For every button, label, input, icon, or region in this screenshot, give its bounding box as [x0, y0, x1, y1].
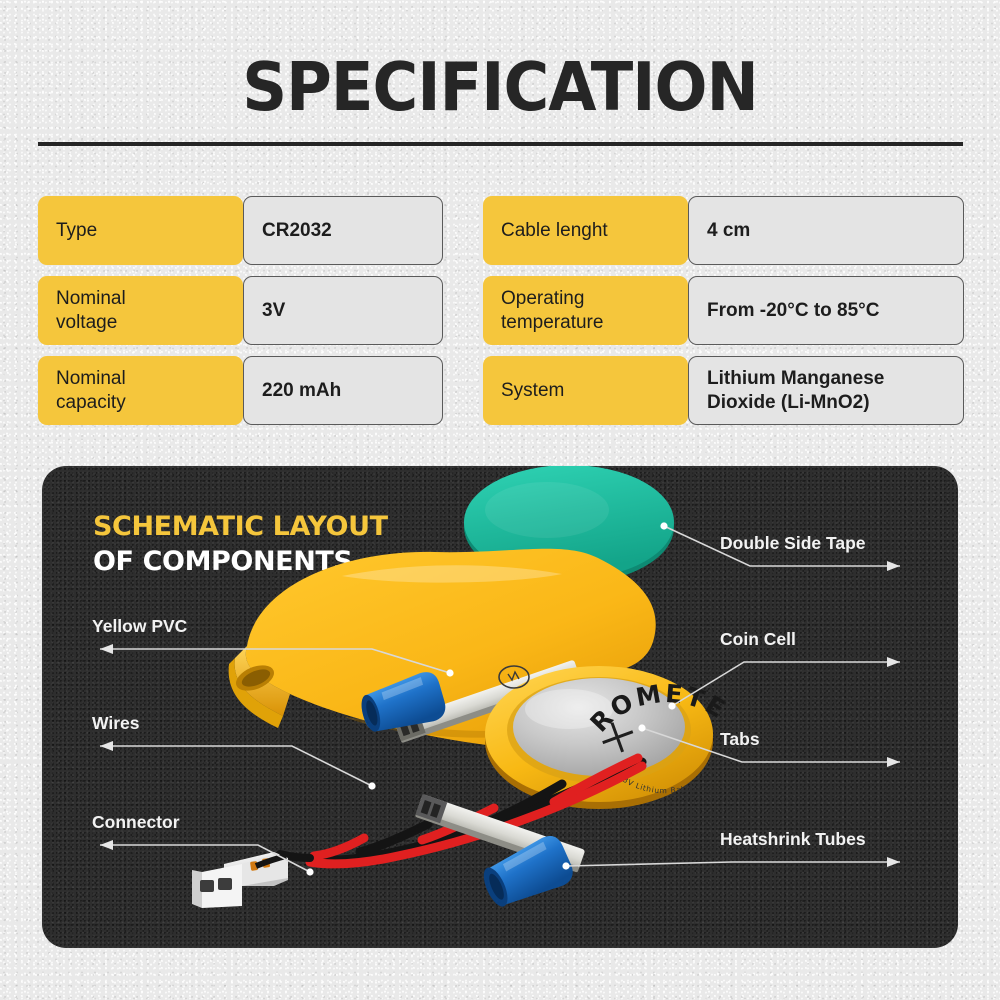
- spec-value-type: CR2032: [243, 196, 443, 265]
- spec-value-system: Lithium ManganeseDioxide (Li-MnO2): [688, 356, 964, 425]
- page-title: SPECIFICATION: [35, 48, 965, 126]
- spec-value-operating-temperature: From -20°C to 85°C: [688, 276, 964, 345]
- callout-label-tabs: Tabs: [720, 729, 760, 750]
- spec-key-cable-lenght: Cable lenght: [483, 196, 688, 265]
- spec-value-nominal-voltage: 3V: [243, 276, 443, 345]
- callout-label-yellow-pvc: Yellow PVC: [92, 616, 187, 637]
- callout-label-connector: Connector: [92, 812, 180, 833]
- column-gap: [443, 356, 483, 425]
- column-gap: [443, 276, 483, 345]
- spec-value-cable-lenght: 4 cm: [688, 196, 964, 265]
- spec-value-label: 4 cm: [707, 219, 750, 243]
- column-gap: [443, 196, 483, 265]
- spec-key-nominal-capacity: Nominalcapacity: [38, 356, 243, 425]
- spec-key-system: System: [483, 356, 688, 425]
- spec-value-label: CR2032: [262, 219, 332, 243]
- spec-key-label: Type: [56, 219, 97, 242]
- spec-key-label: Nominalcapacity: [56, 367, 126, 413]
- spec-key-label: Cable lenght: [501, 219, 608, 242]
- callout-label-coin-cell: Coin Cell: [720, 629, 796, 650]
- spec-key-type: Type: [38, 196, 243, 265]
- spec-value-label: 3V: [262, 299, 285, 323]
- spec-key-label: System: [501, 379, 564, 402]
- spec-value-label: From -20°C to 85°C: [707, 299, 880, 323]
- schematic-panel: SCHEMATIC LAYOUT OF COMPONENTS: [42, 466, 958, 948]
- spec-value-nominal-capacity: 220 mAh: [243, 356, 443, 425]
- callout-label-wires: Wires: [92, 713, 140, 734]
- spec-value-label: 220 mAh: [262, 379, 341, 403]
- callout-label-heatshrink-tubes: Heatshrink Tubes: [720, 829, 866, 850]
- callout-label-double-side-tape: Double Side Tape: [720, 533, 866, 554]
- title-divider: [38, 142, 963, 146]
- spec-key-nominal-voltage: Nominalvoltage: [38, 276, 243, 345]
- spec-key-operating-temperature: Operatingtemperature: [483, 276, 688, 345]
- spec-value-label: Lithium ManganeseDioxide (Li-MnO2): [707, 367, 884, 415]
- spec-key-label: Operatingtemperature: [501, 287, 603, 333]
- specification-table: Type CR2032 Cable lenght 4 cm Nominalvol…: [38, 196, 964, 425]
- spec-key-label: Nominalvoltage: [56, 287, 126, 333]
